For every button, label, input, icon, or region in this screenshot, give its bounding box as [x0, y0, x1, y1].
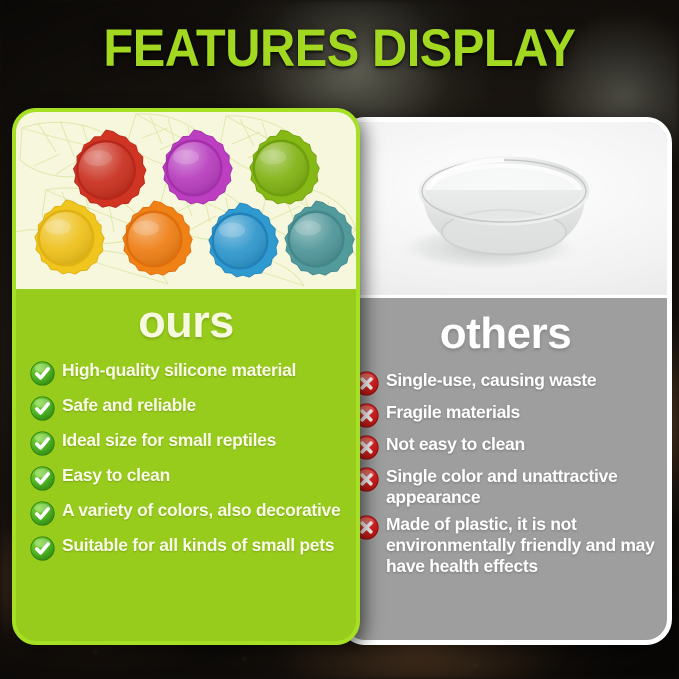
- list-item: Not easy to clean: [354, 434, 666, 460]
- list-item: Single color and unattractive appearance: [354, 466, 666, 508]
- list-item: Made of plastic, it is not environmental…: [354, 514, 666, 577]
- check-circle-icon: [30, 431, 55, 456]
- others-bullet-list: Single-use, causing waste Fragile materi…: [354, 370, 666, 577]
- list-item: Fragile materials: [354, 402, 666, 428]
- list-item-label: A variety of colors, also decorative: [62, 500, 340, 521]
- list-item-label: Fragile materials: [386, 402, 520, 423]
- list-item: Safe and reliable: [30, 395, 352, 421]
- list-item-label: Single-use, causing waste: [386, 370, 596, 391]
- list-item-label: Not easy to clean: [386, 434, 525, 455]
- list-item: Single-use, causing waste: [354, 370, 666, 396]
- check-circle-icon: [30, 396, 55, 421]
- list-item-label: Ideal size for small reptiles: [62, 430, 276, 451]
- ours-card: ours High-quality silicone material: [12, 108, 360, 645]
- ours-bullet-list: High-quality silicone material Safe and …: [30, 360, 352, 561]
- others-product-photo: [344, 122, 667, 298]
- list-item-label: Single color and unattractive appearance: [386, 466, 666, 508]
- list-item-label: High-quality silicone material: [62, 360, 296, 381]
- list-item-label: Made of plastic, it is not environmental…: [386, 514, 666, 577]
- purple-cup: [163, 130, 233, 204]
- others-card: others Single-use, causing waste: [339, 117, 672, 645]
- list-item: Easy to clean: [30, 465, 352, 491]
- check-circle-icon: [30, 361, 55, 386]
- ours-heading: ours: [16, 295, 356, 349]
- yellow-cup: [35, 200, 105, 274]
- green-cup: [250, 130, 319, 204]
- page-title: FEATURES DISPLAY: [27, 19, 652, 79]
- list-item-label: Safe and reliable: [62, 395, 196, 416]
- ours-product-photo: [16, 112, 356, 289]
- check-circle-icon: [30, 466, 55, 491]
- teal-cup: [285, 201, 355, 275]
- list-item: High-quality silicone material: [30, 360, 352, 386]
- list-item-label: Easy to clean: [62, 465, 170, 486]
- orange-cup: [123, 201, 193, 275]
- infographic-canvas: FEATURES DISPLAY: [0, 0, 679, 679]
- list-item-label: Suitable for all kinds of small pets: [62, 535, 334, 556]
- others-heading: others: [344, 308, 667, 360]
- check-circle-icon: [30, 536, 55, 561]
- blue-cup: [209, 203, 278, 277]
- silicone-cups-group: [16, 112, 356, 289]
- list-item: Ideal size for small reptiles: [30, 430, 352, 456]
- check-circle-icon: [30, 501, 55, 526]
- clear-plastic-cup-image: [381, 148, 631, 276]
- list-item: A variety of colors, also decorative: [30, 500, 352, 526]
- red-cup: [73, 130, 146, 208]
- list-item: Suitable for all kinds of small pets: [30, 535, 352, 561]
